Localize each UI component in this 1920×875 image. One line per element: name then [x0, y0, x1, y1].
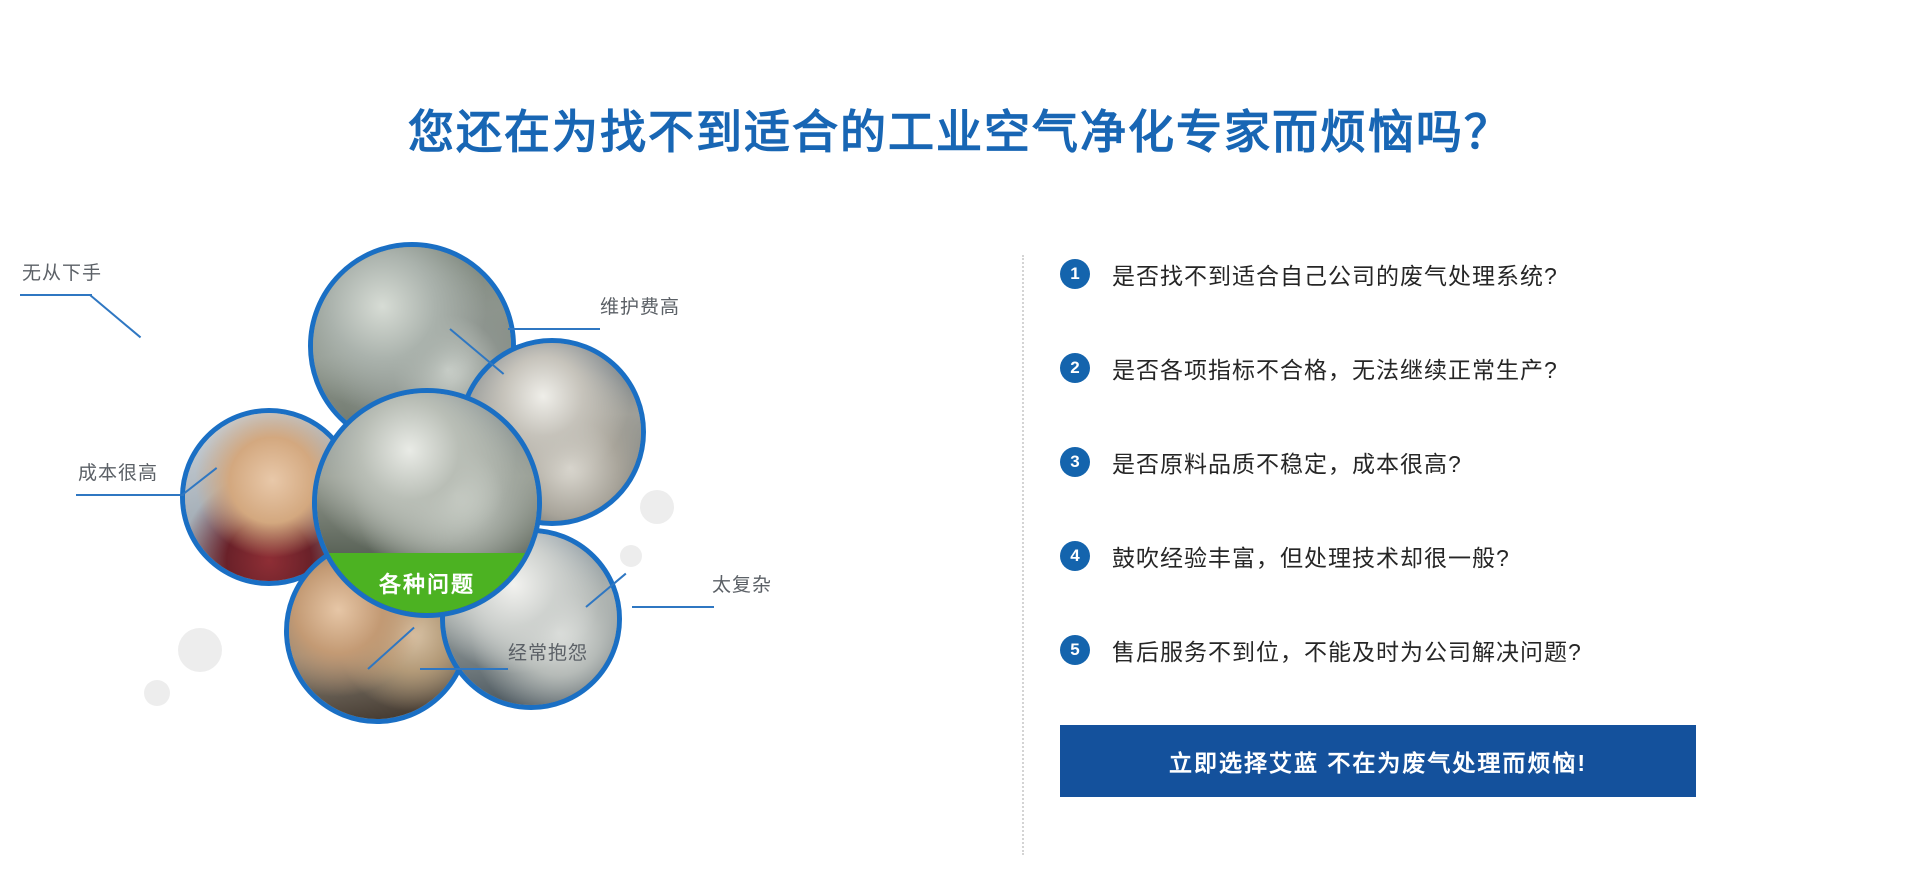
list-item: 1 是否找不到适合自己公司的废气处理系统?	[1060, 255, 1900, 293]
callout-label: 无从下手	[22, 258, 102, 285]
list-item-label: 是否原料品质不稳定，成本很高?	[1112, 445, 1462, 479]
list-item-label: 售后服务不到位，不能及时为公司解决问题?	[1112, 633, 1582, 667]
leader-line-diagonal	[89, 294, 141, 338]
list-item: 4 鼓吹经验丰富，但处理技术却很一般?	[1060, 537, 1900, 575]
decorative-dot	[178, 628, 222, 672]
callout-label: 太复杂	[712, 570, 772, 597]
callout-label: 维护费高	[600, 292, 680, 319]
photo-bubble-center: 各种问题	[312, 388, 542, 618]
list-item: 5 售后服务不到位，不能及时为公司解决问题?	[1060, 631, 1900, 669]
list-item: 2 是否各项指标不合格，无法继续正常生产?	[1060, 349, 1900, 387]
list-item-number: 4	[1060, 541, 1090, 571]
callout-label: 经常抱怨	[508, 638, 588, 665]
callout-label: 成本很高	[78, 458, 158, 485]
list-item-label: 是否各项指标不合格，无法继续正常生产?	[1112, 351, 1558, 385]
list-item-label: 鼓吹经验丰富，但处理技术却很一般?	[1112, 539, 1510, 573]
promo-section: 您还在为找不到适合的工业空气净化专家而烦恼吗？	[0, 0, 1920, 875]
list-item: 3 是否原料品质不稳定，成本很高?	[1060, 443, 1900, 481]
questions-panel: 1 是否找不到适合自己公司的废气处理系统? 2 是否各项指标不合格，无法继续正常…	[1060, 255, 1900, 865]
center-badge: 各种问题	[317, 553, 537, 613]
decorative-dot	[640, 490, 674, 524]
vertical-divider	[1022, 255, 1024, 855]
list-item-number: 1	[1060, 259, 1090, 289]
leader-line	[508, 328, 600, 330]
leader-line	[76, 494, 184, 496]
list-item-number: 5	[1060, 635, 1090, 665]
cta-button[interactable]: 立即选择艾蓝 不在为废气处理而烦恼!	[1060, 725, 1696, 797]
decorative-dot	[144, 680, 170, 706]
infographic-panel: 各种问题 无从下手 维护费高 成本很高 太复杂 经常抱怨	[0, 240, 1020, 860]
leader-line	[20, 294, 92, 296]
decorative-dot	[620, 545, 642, 567]
leader-line	[420, 668, 508, 670]
list-item-number: 2	[1060, 353, 1090, 383]
list-item-number: 3	[1060, 447, 1090, 477]
list-item-label: 是否找不到适合自己公司的废气处理系统?	[1112, 257, 1558, 291]
page-title: 您还在为找不到适合的工业空气净化专家而烦恼吗？	[0, 96, 1920, 162]
question-list: 1 是否找不到适合自己公司的废气处理系统? 2 是否各项指标不合格，无法继续正常…	[1060, 255, 1900, 725]
leader-line	[632, 606, 714, 608]
